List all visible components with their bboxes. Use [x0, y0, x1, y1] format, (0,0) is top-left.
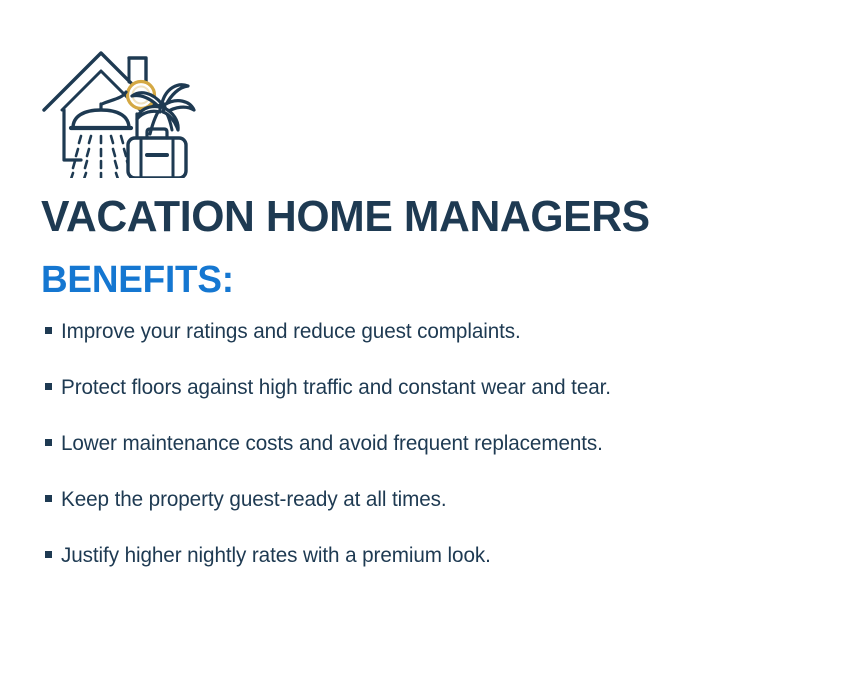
list-item-label: Justify higher nightly rates with a prem… [61, 544, 491, 568]
square-bullet-icon [45, 439, 52, 446]
square-bullet-icon [45, 327, 52, 334]
benefits-subtitle: BENEFITS: [41, 258, 234, 302]
square-bullet-icon [45, 551, 52, 558]
list-item-label: Lower maintenance costs and avoid freque… [61, 432, 603, 456]
list-item: Justify higher nightly rates with a prem… [45, 544, 805, 600]
list-item-label: Improve your ratings and reduce guest co… [61, 320, 521, 344]
vacation-home-logo [40, 42, 198, 178]
list-item: Improve your ratings and reduce guest co… [45, 320, 805, 376]
page-title: VACATION HOME MANAGERS [41, 192, 650, 242]
list-item: Lower maintenance costs and avoid freque… [45, 432, 805, 488]
suitcase-icon [128, 129, 186, 178]
square-bullet-icon [45, 495, 52, 502]
list-item-label: Protect floors against high traffic and … [61, 376, 611, 400]
palm-tree-icon [132, 85, 194, 134]
document-page: VACATION HOME MANAGERS BENEFITS: Improve… [0, 0, 844, 674]
square-bullet-icon [45, 383, 52, 390]
list-item: Keep the property guest-ready at all tim… [45, 488, 805, 544]
list-item-label: Keep the property guest-ready at all tim… [61, 488, 447, 512]
water-droplets-icon [71, 136, 131, 178]
shower-head-icon [71, 92, 131, 128]
benefits-list: Improve your ratings and reduce guest co… [45, 320, 805, 600]
list-item: Protect floors against high traffic and … [45, 376, 805, 432]
